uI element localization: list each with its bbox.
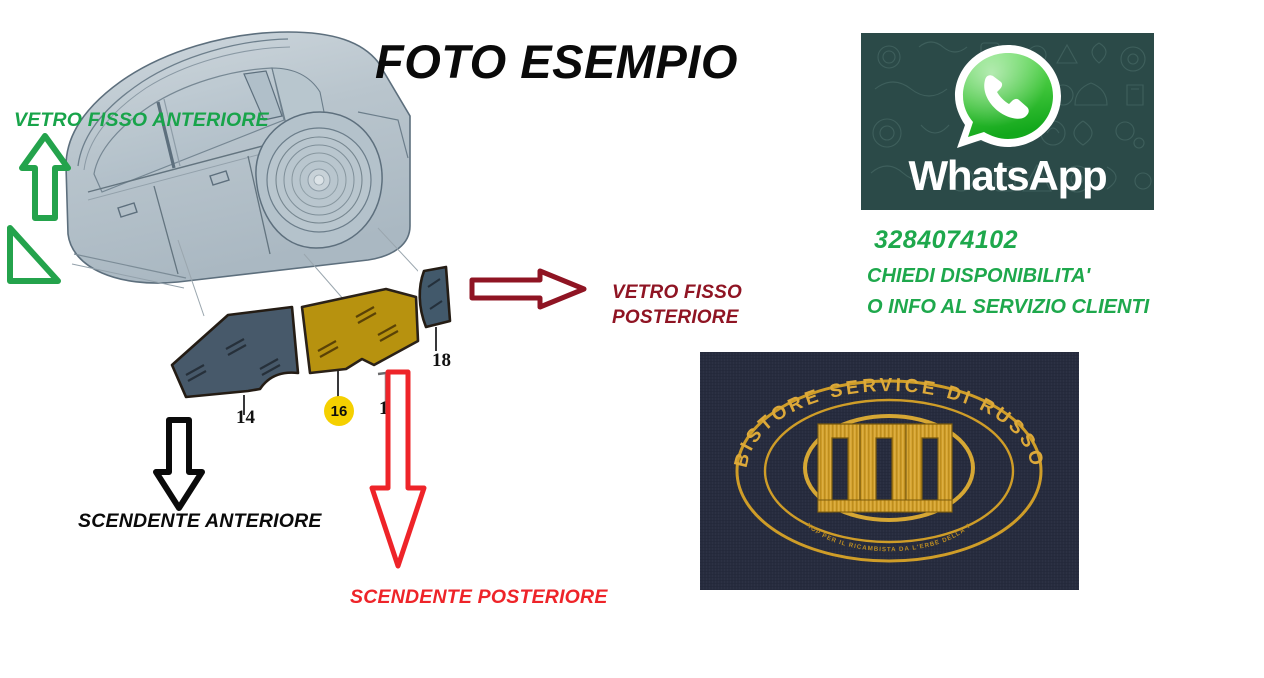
right-arrow-darkred-icon xyxy=(468,268,588,310)
shop-logo: MRICAMBISTORE SERVICE DI RUSSO MARCO IL … xyxy=(700,352,1079,590)
callout-number-18: 18 xyxy=(432,350,451,372)
label-vetro-fisso-anteriore: VETRO FISSO ANTERIORE xyxy=(14,109,269,132)
label-scendente-posteriore: SCENDENTE POSTERIORE xyxy=(350,586,608,609)
down-arrow-red-icon xyxy=(366,368,430,573)
shop-logo-artwork: MRICAMBISTORE SERVICE DI RUSSO MARCO IL … xyxy=(700,352,1079,590)
label-scendente-anteriore: SCENDENTE ANTERIORE xyxy=(78,510,322,533)
page-title: FOTO ESEMPIO xyxy=(375,34,738,89)
contact-line-2: O INFO AL SERVIZIO CLIENTI xyxy=(867,296,1149,319)
part-18-rear-fixed-glass xyxy=(420,267,450,327)
callout-number-16: 16 xyxy=(324,396,354,426)
part-14-front-drop-glass xyxy=(172,307,298,397)
down-arrow-black-icon xyxy=(152,416,206,512)
phone-number[interactable]: 3284074102 xyxy=(874,226,1018,255)
whatsapp-wordmark: WhatsApp xyxy=(861,152,1154,200)
part-16-rear-drop-glass xyxy=(302,289,418,373)
label-vetro-fisso-posteriore: VETRO FISSO POSTERIORE xyxy=(612,280,742,330)
screenshot-canvas: 14 16 17 18 FOTO ESEMPIO VETRO FISSO ANT… xyxy=(0,0,1264,678)
triangle-green-icon xyxy=(4,224,62,286)
contact-line-1: CHIEDI DISPONIBILITA' xyxy=(867,265,1090,288)
whatsapp-banner[interactable]: WhatsApp xyxy=(861,33,1154,210)
label-line-1: VETRO FISSO xyxy=(612,280,742,305)
up-arrow-green-icon xyxy=(16,132,74,222)
label-line-2: POSTERIORE xyxy=(612,305,742,330)
callout-number-14: 14 xyxy=(236,407,255,429)
whatsapp-logo-icon xyxy=(949,41,1067,157)
